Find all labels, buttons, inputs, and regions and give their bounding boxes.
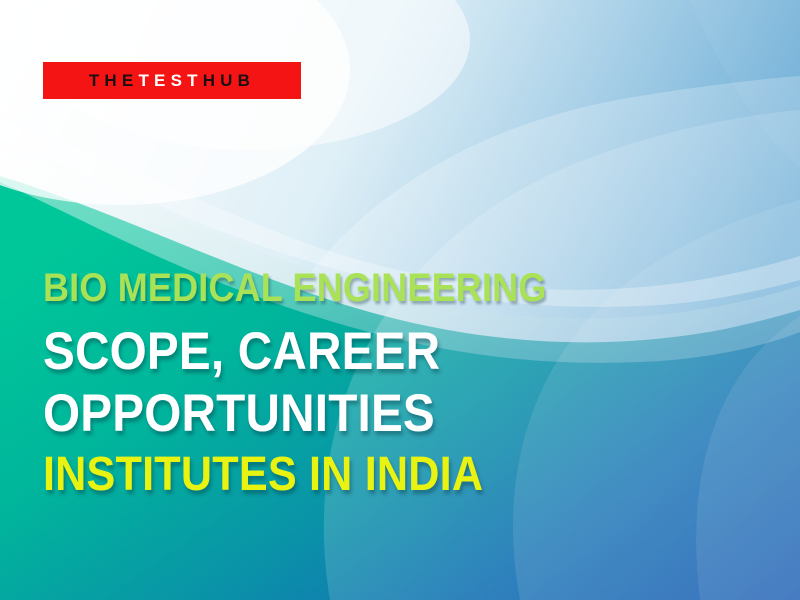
headline-line-3: OPPORTUNITIES: [43, 387, 673, 440]
headline-line-1: BIO MEDICAL ENGINEERING: [43, 268, 673, 308]
logo-text-test: TEST: [138, 72, 202, 89]
promo-banner: THETESTHUB BIO MEDICAL ENGINEERING SCOPE…: [0, 0, 800, 600]
headline-line-2: SCOPE, CAREER: [43, 325, 673, 378]
headline-block: BIO MEDICAL ENGINEERING SCOPE, CAREER OP…: [43, 268, 743, 499]
logo-text-the: THE: [89, 72, 139, 89]
headline-line-4: INSTITUTES IN INDIA: [43, 451, 673, 499]
logo-text-hub: HUB: [203, 72, 255, 89]
site-logo[interactable]: THETESTHUB: [43, 62, 301, 99]
